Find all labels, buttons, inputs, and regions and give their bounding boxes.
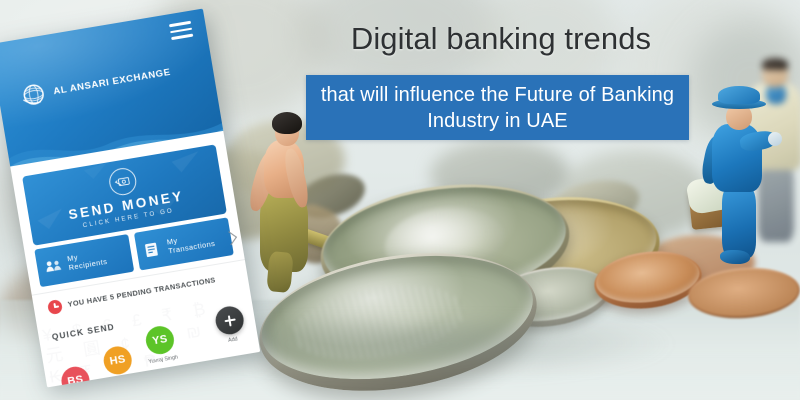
app-header: AL ANSARI EXCHANGE: [0, 9, 223, 167]
suitcase-prop: [688, 184, 730, 230]
figurine-arm: [739, 129, 777, 152]
contact-item[interactable]: HS Homer Simpson: [100, 344, 139, 387]
figurine-torso: [264, 140, 304, 198]
figurine-legs: [758, 164, 794, 242]
blurred-coin: [430, 140, 570, 210]
phone-mockup: AL ANSARI EXCHANGE: [0, 9, 260, 388]
figurine-scarf: [766, 84, 786, 104]
clock-icon: [47, 298, 63, 314]
silver-coin-large: [314, 171, 577, 321]
my-transactions-label: My Transactions: [166, 230, 216, 256]
blurred-coin: [645, 235, 755, 290]
figurine-hair: [272, 112, 302, 134]
copper-coin-under-figurine: [686, 264, 800, 322]
coin-scatter: [542, 173, 644, 238]
add-contact-wrapper: Add: [212, 304, 250, 346]
contact-name: Homer Simpson: [105, 375, 139, 388]
cloth-prop: [685, 175, 730, 215]
contact-avatar: HS: [102, 344, 134, 376]
hat-brim: [712, 99, 766, 109]
silver-coin-small: [487, 260, 614, 334]
figurine-arm: [281, 147, 311, 209]
figurine-arm: [700, 135, 727, 186]
beige-coat-man-figurine: [746, 60, 800, 250]
silver-coin-foreground: [249, 235, 546, 400]
plus-icon[interactable]: [214, 304, 246, 336]
figurine-leg: [266, 251, 293, 293]
subtitle-banner: that will influence the Future of Bankin…: [306, 75, 689, 140]
figurine-hat: [718, 86, 760, 104]
people-group-icon: [44, 257, 63, 275]
lever-prop: [272, 218, 358, 258]
figurine-hair: [762, 58, 788, 70]
copper-penny: [591, 246, 705, 315]
gold-coin: [440, 187, 665, 314]
figurine-torso: [712, 124, 762, 192]
headline-title: Digital banking trends: [306, 20, 696, 58]
figurine-head: [275, 120, 299, 146]
figurine-hand: [768, 132, 782, 146]
coin-scatter: [277, 198, 348, 270]
contact-name: Yuvraj Singh: [148, 354, 178, 365]
blue-suited-man-with-hat-figurine: [700, 86, 778, 286]
figurine-legs: [722, 184, 756, 258]
my-recipients-label: My Recipients: [67, 248, 108, 272]
figurine-head: [762, 60, 788, 88]
globe-logo-icon: [19, 80, 49, 110]
figurine-shoe: [720, 250, 750, 264]
phone-screen: AL ANSARI EXCHANGE: [0, 9, 260, 388]
coin-shadow: [190, 320, 670, 380]
banner-stage: Digital banking trends that will influen…: [0, 0, 800, 400]
coin-scatter: [292, 166, 371, 226]
bokeh-blob: [690, 20, 800, 140]
figurine-head: [726, 104, 752, 130]
figurine-pants: [260, 192, 308, 272]
contact-avatar: BS: [59, 365, 91, 388]
blurred-coin: [560, 150, 710, 240]
headline-subtitle: that will influence the Future of Bankin…: [306, 82, 689, 134]
contact-item[interactable]: BS Bert Simpson: [57, 364, 95, 387]
document-list-icon: [144, 240, 163, 258]
contact-item[interactable]: YS Yuvraj Singh: [142, 324, 180, 366]
headline-block: Digital banking trends: [306, 20, 696, 58]
contact-avatar: YS: [144, 324, 176, 356]
figurine-arm: [246, 149, 280, 214]
figurine-coat: [748, 84, 800, 170]
